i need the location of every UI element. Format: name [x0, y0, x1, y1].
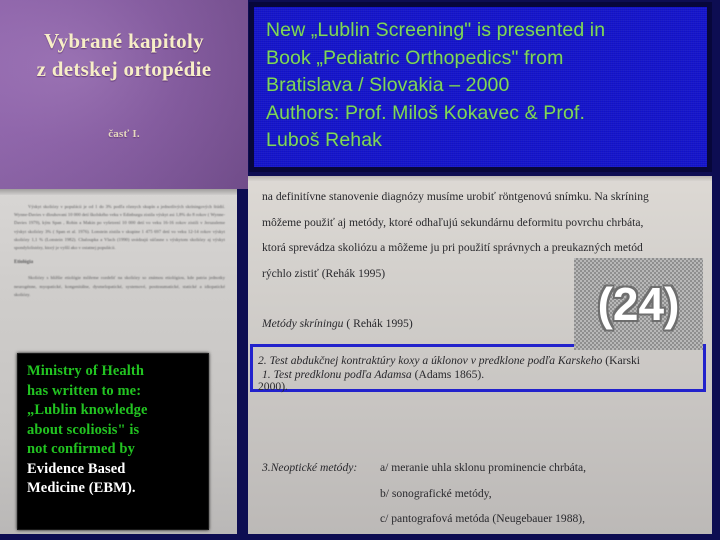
highlight-line-1-italic: 2. Test abdukčnej kontraktúry koxy a úkl… [258, 354, 602, 367]
main-item-3-b: b/ sonografické metódy, [380, 481, 706, 507]
main-item-3-row: 3.Neoptické metódy: a/ meranie uhla sklo… [262, 455, 706, 481]
highlight-line-1: 2. Test abdukčnej kontraktúry koxy a úkl… [258, 348, 698, 374]
bottom-edge-band [0, 534, 720, 540]
book-cover-part-label: časť I. [0, 128, 248, 140]
main-section-title-suffix: ( Rehák 1995) [346, 317, 412, 330]
vertical-separator [237, 189, 248, 540]
callout-line-2: has written to me: [27, 382, 199, 402]
page-number-watermark: (24) [574, 258, 703, 350]
header-line-3: Bratislava / Slovakia – 2000 [266, 72, 699, 100]
book-title-line-2: z detskej ortopédie [0, 56, 248, 84]
left-page-paragraph-1: Výskyt skoliózy v populácii je od 1 do 3… [14, 203, 225, 252]
book-title-line-1: Vybrané kapitoly [44, 29, 204, 53]
main-para-line-2: môžeme použiť aj metódy, ktoré odhaľujú … [262, 210, 706, 236]
header-line-5: Luboš Rehak [266, 127, 699, 155]
main-para-line-3: ktorá sprevádza skoliózu a môžeme ju pri… [262, 235, 706, 261]
header-line-1: New „Lublin Screening" is presented in [266, 17, 699, 45]
header-announcement-text: New „Lublin Screening" is presented in B… [254, 7, 707, 155]
right-edge-band [712, 0, 720, 540]
callout-line-5: not confirmed by [27, 440, 199, 460]
main-item-3-c: c/ pantografová metóda (Neugebauer 1988)… [380, 506, 706, 532]
main-section-title-italic: Metódy skríningu [262, 317, 343, 330]
header-line-4: Authors: Prof. Miloš Kokavec & Prof. [266, 100, 699, 128]
main-item-3-a: a/ meranie uhla sklonu prominencie chrbá… [380, 455, 706, 481]
left-page-body-text: Výskyt skoliózy v populácii je od 1 do 3… [14, 203, 225, 306]
page-number-value: (24) [598, 281, 680, 327]
highlight-line-2: 2000). [258, 374, 698, 400]
highlight-line-1-plain: (Karski [605, 354, 640, 367]
slide-canvas: Vybrané kapitoly z detskej ortopédie čas… [0, 0, 720, 540]
callout-text-block: Ministry of Health has written to me: „L… [18, 354, 208, 505]
ministry-statement-callout: Ministry of Health has written to me: „L… [17, 353, 209, 530]
main-page-top-edge [248, 176, 720, 181]
callout-line-1: Ministry of Health [27, 362, 199, 382]
left-page-paragraph-2: Skoliózy s bližšie etiológie môžeme rozd… [14, 274, 225, 299]
main-item-3-label: 3.Neoptické metódy: [262, 455, 380, 481]
callout-line-3: „Lublin knowledge [27, 401, 199, 421]
book-cover-image: Vybrané kapitoly z detskej ortopédie čas… [0, 0, 248, 189]
book-cover-title: Vybrané kapitoly z detskej ortopédie [0, 28, 248, 83]
callout-line-7: Medicine (EBM). [27, 479, 199, 499]
header-line-2: Book „Pediatric Orthopedics" from [266, 45, 699, 73]
left-page-heading: Etiológia [14, 259, 225, 267]
callout-line-4: about scoliosis" is [27, 421, 199, 441]
header-announcement-box: New „Lublin Screening" is presented in B… [249, 2, 712, 172]
left-page-top-edge [0, 189, 237, 195]
callout-line-6: Evidence Based [27, 460, 199, 480]
karski-test-highlight-text: 2. Test abdukčnej kontraktúry koxy a úkl… [250, 348, 706, 399]
main-para-line-1: na definitívne stanovenie diagnózy musím… [262, 184, 706, 210]
